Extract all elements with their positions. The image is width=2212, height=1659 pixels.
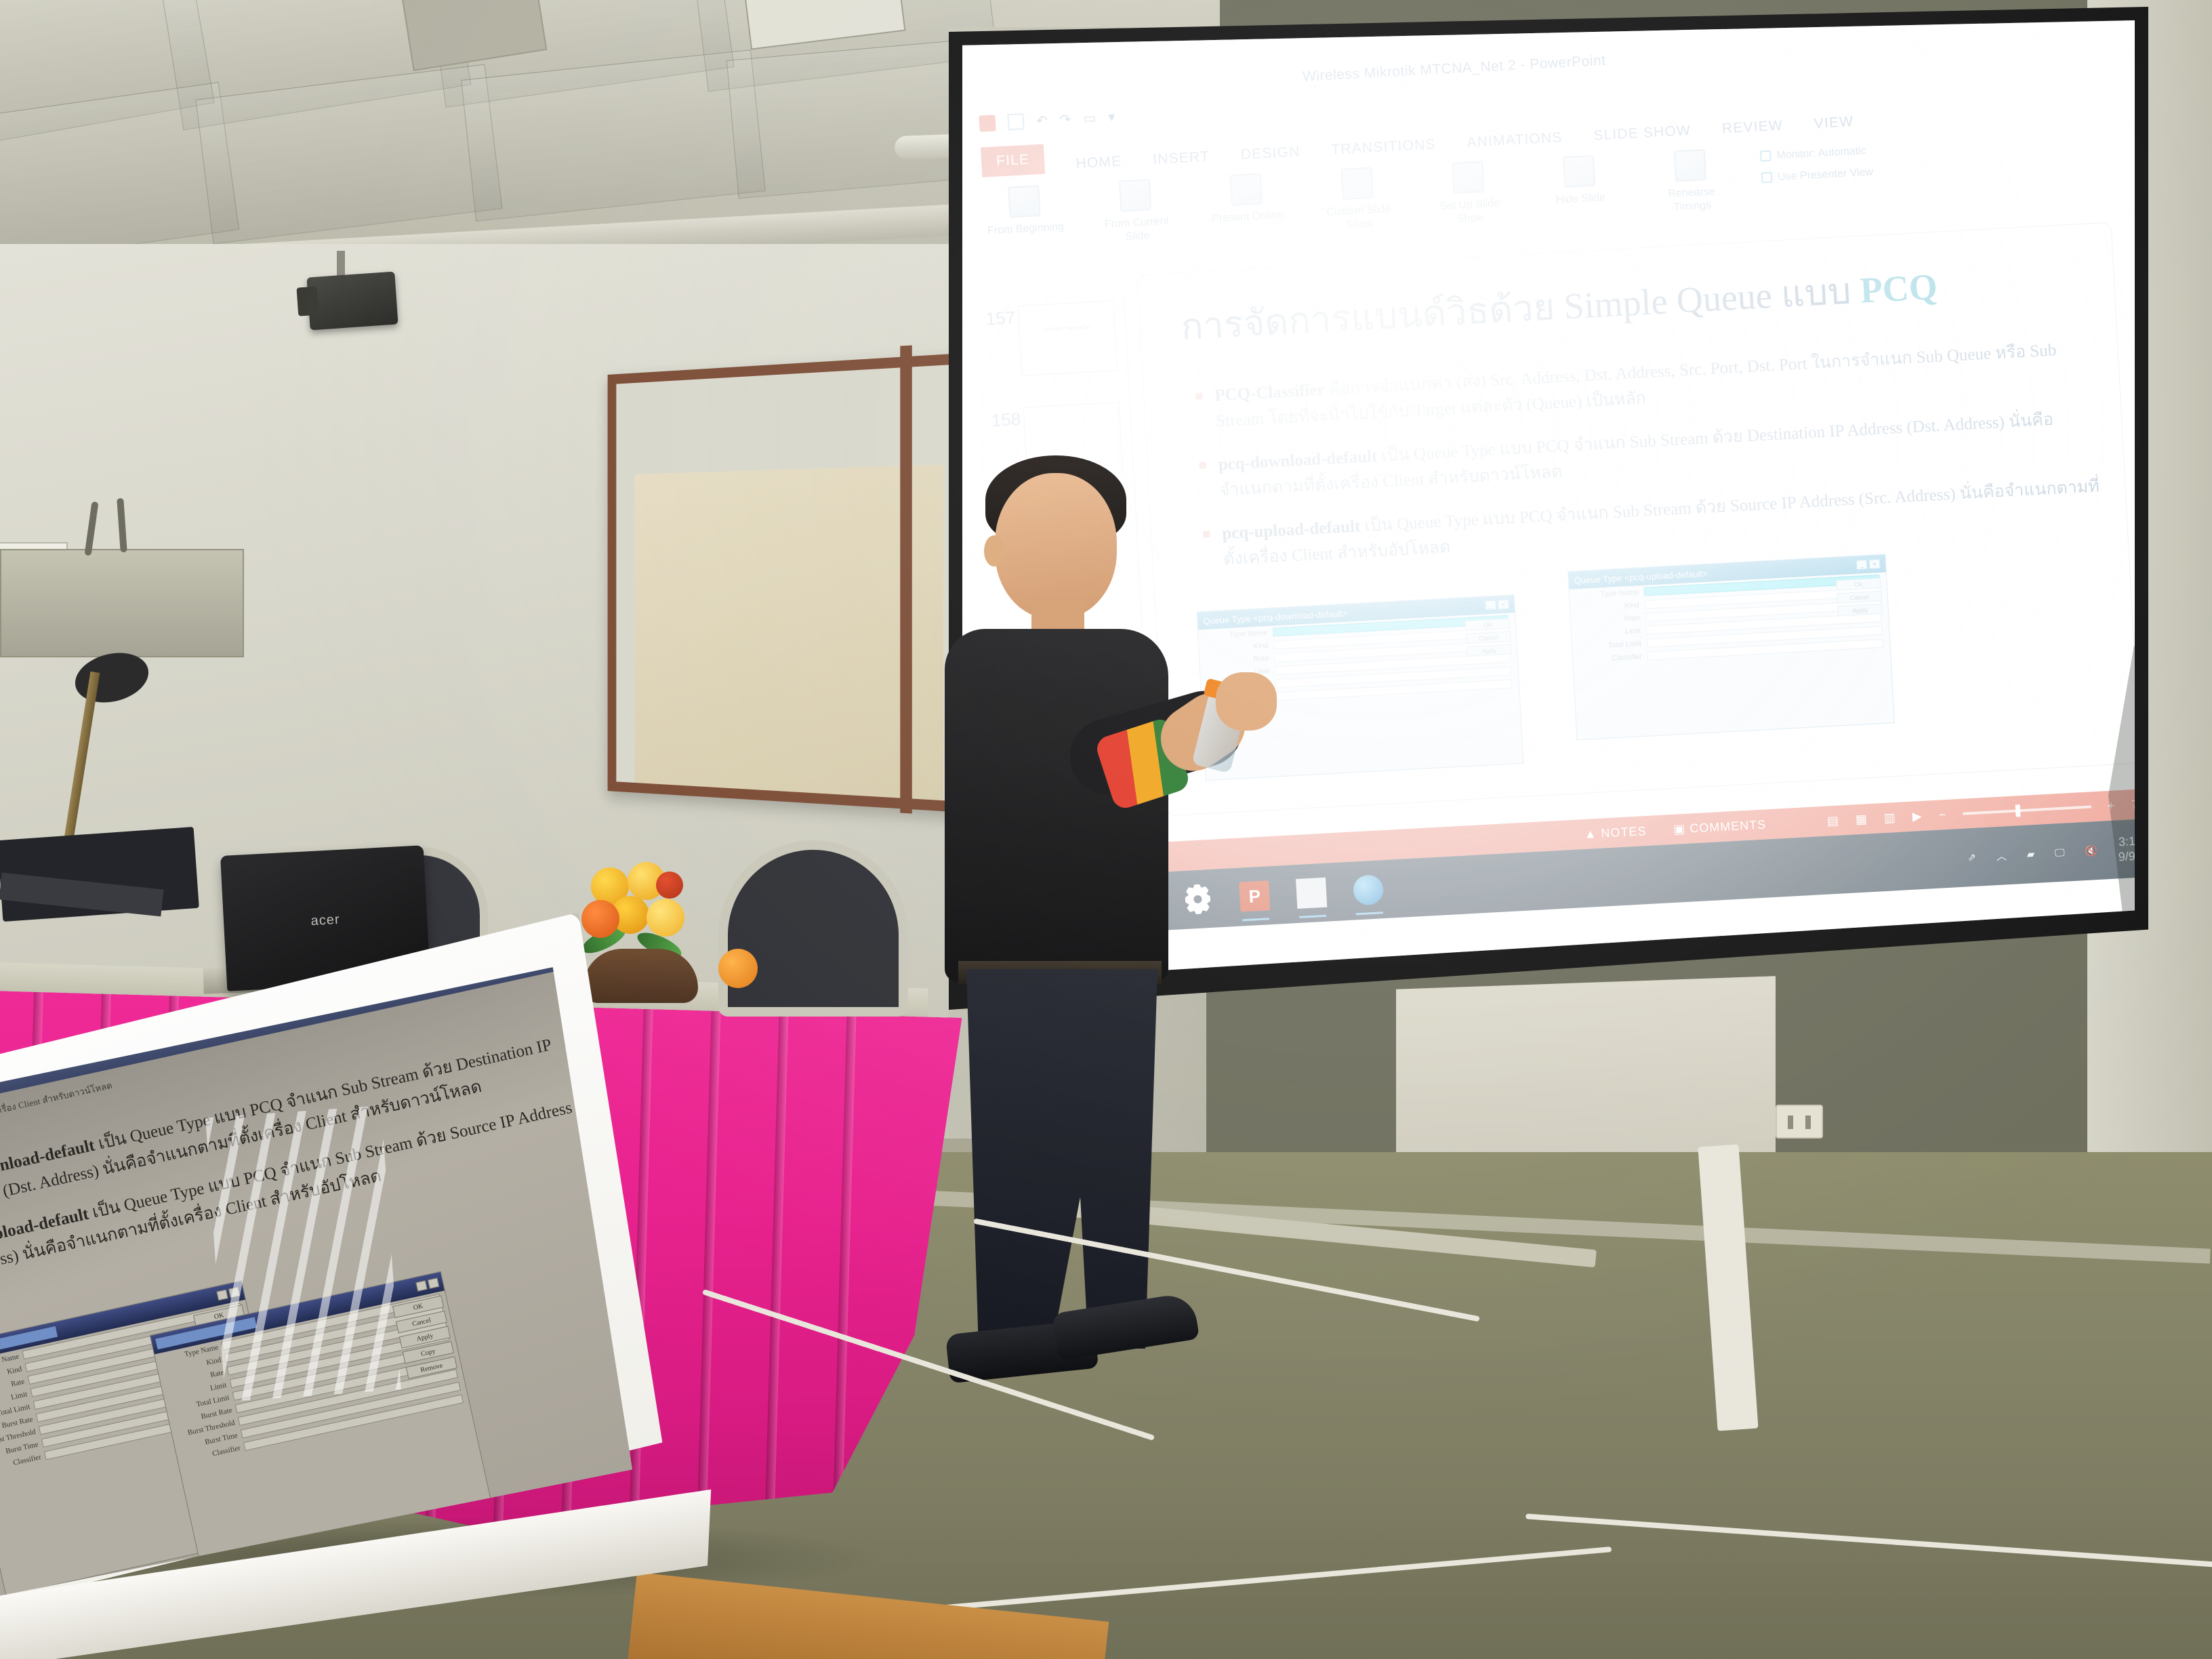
winbox-window-buttons — [216, 1287, 240, 1301]
hand — [1216, 672, 1277, 731]
tab-design[interactable]: DESIGN — [1240, 144, 1300, 163]
ok-button: OK — [1836, 578, 1881, 591]
tab-file[interactable]: FILE — [981, 144, 1045, 178]
ribbon-from-beginning[interactable]: From Beginning — [983, 184, 1067, 238]
ribbon-present-online[interactable]: Present Online — [1205, 171, 1289, 226]
winbox-window-buttons: _× — [1856, 559, 1881, 570]
zoom-slider-handle[interactable] — [2015, 804, 2020, 817]
thumbnail-157[interactable]: 157 การจัดการแบนด์วิธ — [982, 296, 1129, 405]
minimize-icon: _ — [1485, 600, 1496, 611]
jeans — [958, 969, 1162, 1349]
decor-ball — [718, 949, 758, 988]
monitor-options[interactable]: Monitor: Automatic Use Presenter View — [1760, 139, 1898, 190]
field-label: Type Name — [1576, 588, 1639, 600]
field-label: Rate — [1206, 654, 1269, 665]
ribbon-hide-slide[interactable]: Hide Slide — [1538, 154, 1622, 208]
close-icon — [228, 1287, 241, 1298]
share-icon[interactable]: ⇗ — [1967, 851, 1977, 864]
redo-icon[interactable]: ↷ — [1059, 110, 1071, 128]
ok-button: OK — [1465, 618, 1511, 631]
display-icon[interactable]: 🖵 — [2055, 846, 2065, 859]
checkbox-icon — [1761, 172, 1773, 184]
play-from-start-icon — [1008, 185, 1040, 218]
tab-transitions[interactable]: TRANSITIONS — [1331, 136, 1436, 158]
wall-outlet — [1776, 1105, 1823, 1139]
field-label: Kind — [1577, 601, 1640, 613]
projector — [306, 272, 398, 331]
normal-view-icon[interactable]: ▤ — [1826, 813, 1839, 828]
ribbon-rehearse[interactable]: Rehearse Timings — [1649, 148, 1734, 216]
tab-slide-show[interactable]: SLIDE SHOW — [1593, 123, 1692, 144]
network-icon[interactable]: ▰ — [2026, 848, 2035, 861]
tab-insert[interactable]: INSERT — [1153, 148, 1210, 167]
window-icon[interactable] — [1296, 878, 1327, 909]
tab-review[interactable]: REVIEW — [1721, 118, 1783, 138]
photo-scene: Wireless Mikrotik MTCNA_Net 2 - PowerPoi… — [0, 0, 2212, 1659]
quick-access-toolbar[interactable]: ↶ ↷ ▭ ▾ — [979, 105, 1115, 136]
field-label: Kind — [1206, 641, 1269, 653]
ribbon-label: Present Online — [1212, 209, 1284, 225]
field-label: Total Limit — [1579, 639, 1642, 651]
ear — [984, 535, 1004, 567]
zoom-out-button[interactable]: − — [1938, 808, 1947, 823]
winbox-queue-type-upload: Queue Type <pcq-upload-default> _× Type … — [1568, 554, 1895, 740]
reading-view-icon[interactable]: ▥ — [1883, 811, 1896, 825]
ribbon-label: Hide Slide — [1555, 192, 1605, 206]
slide-title-accent: PCQ — [1859, 266, 1938, 311]
cancel-button: Cancel — [1466, 631, 1511, 644]
customize-qat-icon[interactable]: ▾ — [1108, 108, 1115, 125]
slide-sorter-icon[interactable]: ▦ — [1855, 812, 1868, 827]
ribbon-label: Custom Slide Show — [1326, 203, 1391, 231]
blue-app-icon[interactable] — [1353, 874, 1384, 905]
zoom-slider[interactable] — [1963, 805, 2091, 815]
slide-canvas[interactable]: การจัดการแบนด์วิธด้วย Simple Queue แบบ P… — [1136, 222, 2135, 817]
field-label: Limit — [1578, 627, 1641, 638]
presenter — [935, 434, 1206, 1355]
window-title: Wireless Mikrotik MTCNA_Net 2 - PowerPoi… — [1302, 53, 1606, 85]
thumbnail-caption: การจัดการแบนด์วิธ — [1044, 323, 1090, 334]
ribbon-custom-show[interactable]: Custom Slide Show — [1315, 165, 1400, 233]
slide-title-text: การจัดการแบนด์วิธด้วย Simple Queue แบบ — [1180, 270, 1861, 348]
thumbnail-number: 157 — [985, 307, 1016, 329]
winbox-buttons: OK Cancel Apply — [1465, 618, 1512, 656]
equipment-rack — [0, 549, 244, 657]
tab-animations[interactable]: ANIMATIONS — [1467, 129, 1563, 151]
tab-view[interactable]: VIEW — [1814, 114, 1854, 132]
close-icon: × — [1869, 559, 1881, 569]
save-icon[interactable] — [1007, 113, 1024, 130]
tab-home[interactable]: HOME — [1076, 153, 1122, 172]
winbox-buttons: OK Cancel Apply — [1836, 578, 1883, 616]
powerpoint-logo-icon — [979, 115, 996, 131]
volume-mute-icon[interactable]: 🔇 — [2085, 844, 2098, 857]
thumbnail-image: การจัดการแบนด์วิธ — [1018, 300, 1118, 376]
close-icon: × — [1498, 599, 1509, 609]
ribbon-label: Rehearse Timings — [1668, 186, 1715, 213]
notes-button[interactable]: ▲ NOTES — [1584, 824, 1647, 842]
system-tray[interactable]: ⇗ ︿ ▰ 🖵 🔇 3:17 PM 9/9/2018 ▤ — [1967, 830, 2135, 873]
ribbon-label: Set Up Slide Show — [1439, 197, 1500, 224]
present-icon[interactable]: ▭ — [1083, 109, 1097, 127]
laptop-brand-label: acer — [310, 912, 340, 929]
slide-title: การจัดการแบนด์วิธด้วย Simple Queue แบบ P… — [1179, 249, 2083, 356]
play-current-icon — [1119, 179, 1151, 211]
thumbnail-number: 158 — [991, 409, 1021, 431]
minimize-icon — [415, 1280, 428, 1292]
show-hidden-icons-chevron[interactable]: ︿ — [1996, 848, 2007, 863]
monitor-icon — [1760, 150, 1771, 162]
hide-slide-icon — [1563, 155, 1595, 188]
minimize-icon — [216, 1289, 228, 1300]
head — [995, 473, 1117, 619]
winbox-window-buttons — [415, 1277, 439, 1292]
shoe — [1052, 1292, 1200, 1361]
comments-button[interactable]: ▣ COMMENTS — [1673, 817, 1767, 836]
undo-icon[interactable]: ↶ — [1036, 112, 1048, 129]
present-online-icon — [1230, 173, 1263, 205]
field-label: Type Name — [1205, 628, 1268, 640]
winbox-window-buttons: _× — [1485, 599, 1509, 610]
ribbon-label: From Beginning — [987, 221, 1065, 237]
minimize-icon: _ — [1856, 560, 1868, 570]
bullet-term: pcq-download-default — [1218, 447, 1378, 474]
board-divider — [900, 345, 912, 813]
field-label: Rate — [1578, 614, 1641, 626]
bullet-term: PCQ-Classifier — [1214, 381, 1326, 405]
ribbon-from-current[interactable]: From Current Slide — [1094, 178, 1179, 245]
setup-show-icon — [1452, 161, 1484, 194]
custom-show-icon — [1340, 167, 1373, 199]
field-label: Classifier — [1580, 652, 1643, 663]
foreground-laptop[interactable]: นั่นคือจำแนกตามที่ตั้งเครื่อง Client สำห… — [0, 906, 722, 1659]
cancel-button: Cancel — [1837, 591, 1882, 604]
board-paper — [635, 465, 943, 801]
close-icon — [428, 1277, 440, 1289]
ribbon-label: From Current Slide — [1104, 216, 1169, 243]
bulletin-board — [608, 352, 976, 813]
slide-body: PCQ-Classifier คือการจำแนกค่า (ส่ง) Src.… — [1191, 335, 2109, 592]
ribbon-setup-show[interactable]: Set Up Slide Show — [1427, 160, 1511, 228]
slide-show-icon[interactable]: ▶ — [1912, 808, 1923, 823]
bullet-term: pcq-upload-default — [1222, 517, 1361, 543]
rehearse-icon — [1674, 149, 1706, 182]
powerpoint-icon[interactable]: P — [1239, 880, 1270, 912]
